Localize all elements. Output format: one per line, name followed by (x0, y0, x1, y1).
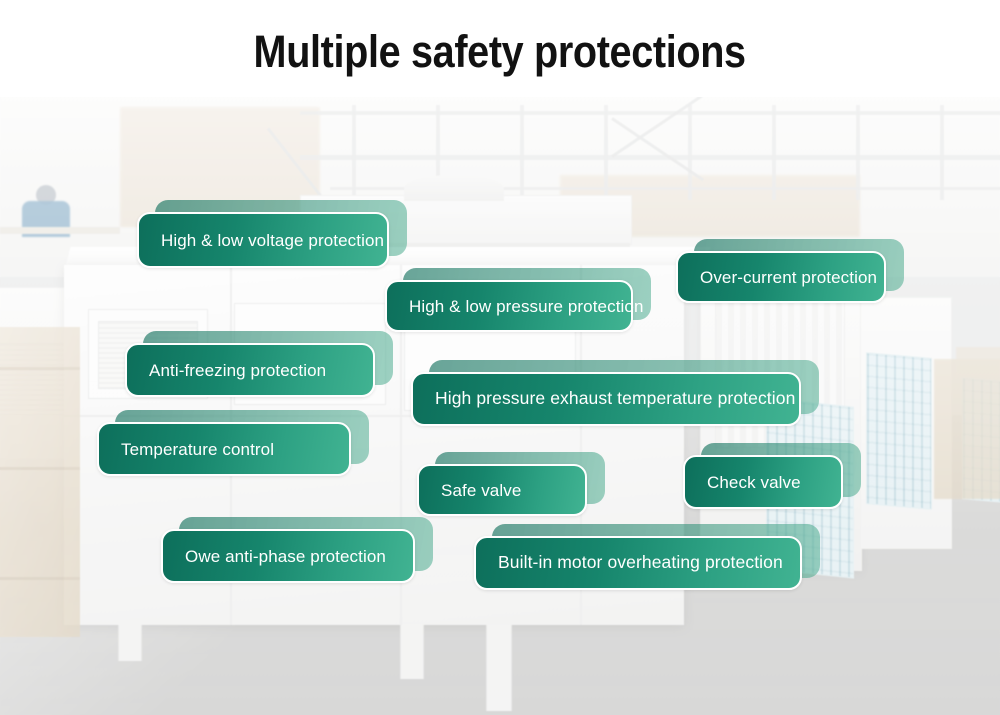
protection-pill-built-in-motor[interactable]: Built-in motor overheating protection (474, 536, 802, 590)
protection-pill-label: High pressure exhaust temperature protec… (413, 390, 817, 408)
protection-pill-face[interactable]: Built-in motor overheating protection (474, 536, 802, 590)
fan-dome (404, 175, 504, 201)
protection-pill-label: High & low voltage protection (139, 232, 406, 249)
wooden-crate (0, 327, 80, 637)
protection-pill-label: Safe valve (419, 482, 543, 499)
protection-pill-label: Anti-freezing protection (127, 362, 348, 379)
protection-pill-temperature-control[interactable]: Temperature control (97, 422, 351, 476)
protection-pill-face[interactable]: Safe valve (417, 464, 587, 516)
protection-pill-face[interactable]: Owe anti-phase protection (161, 529, 415, 583)
condenser-coil-grille (866, 352, 932, 510)
protection-pill-face[interactable]: Temperature control (97, 422, 351, 476)
protection-pill-anti-freezing[interactable]: Anti-freezing protection (125, 343, 375, 397)
protection-pill-label: Built-in motor overheating protection (476, 554, 805, 572)
unit-leg (486, 625, 512, 711)
page-title: Multiple safety protections (254, 26, 746, 78)
protection-pill-safe-valve[interactable]: Safe valve (417, 464, 587, 516)
crate-slat (0, 577, 80, 580)
window-mullion (772, 105, 776, 200)
protection-pill-high-low-pressure[interactable]: High & low pressure protection (385, 280, 633, 332)
protection-pill-owe-anti-phase[interactable]: Owe anti-phase protection (161, 529, 415, 583)
window-mullion (520, 105, 524, 200)
window-mullion (856, 105, 860, 200)
protection-pill-high-low-voltage[interactable]: High & low voltage protection (137, 212, 389, 268)
workbench (0, 227, 120, 234)
header: Multiple safety protections (0, 0, 1000, 97)
protection-pill-label: Over-current protection (678, 269, 899, 286)
crate-slat (0, 367, 80, 370)
protection-pill-label: Check valve (685, 474, 823, 491)
unit-leg (118, 625, 142, 661)
crate-slat (0, 467, 80, 470)
protection-pill-face[interactable]: High pressure exhaust temperature protec… (411, 372, 801, 426)
protection-pill-high-pressure-exhaust[interactable]: High pressure exhaust temperature protec… (411, 372, 801, 426)
unit-leg (400, 625, 424, 679)
protection-pill-label: High & low pressure protection (387, 298, 666, 315)
window-mullion (352, 105, 356, 200)
protection-pill-over-current[interactable]: Over-current protection (676, 251, 886, 303)
roof-truss (300, 111, 1000, 115)
window-mullion (940, 105, 944, 200)
cardboard-pallet-stack (934, 359, 1000, 499)
protection-pill-face[interactable]: Over-current protection (676, 251, 886, 303)
cardboard-pallet-top (956, 347, 1000, 375)
infographic-page: Multiple safety protections (0, 0, 1000, 715)
protection-pill-label: Temperature control (99, 441, 296, 458)
window-mullion (688, 105, 692, 200)
photo-stage: High & low voltage protectionOver-curren… (0, 97, 1000, 715)
window-mullion (604, 105, 608, 200)
protection-pill-check-valve[interactable]: Check valve (683, 455, 843, 509)
protection-pill-face[interactable]: High & low voltage protection (137, 212, 389, 268)
protection-pill-face[interactable]: Check valve (683, 455, 843, 509)
protection-pill-face[interactable]: Anti-freezing protection (125, 343, 375, 397)
protection-pill-face[interactable]: High & low pressure protection (385, 280, 633, 332)
roof-truss (300, 155, 1000, 160)
protection-pill-label: Owe anti-phase protection (163, 548, 408, 565)
